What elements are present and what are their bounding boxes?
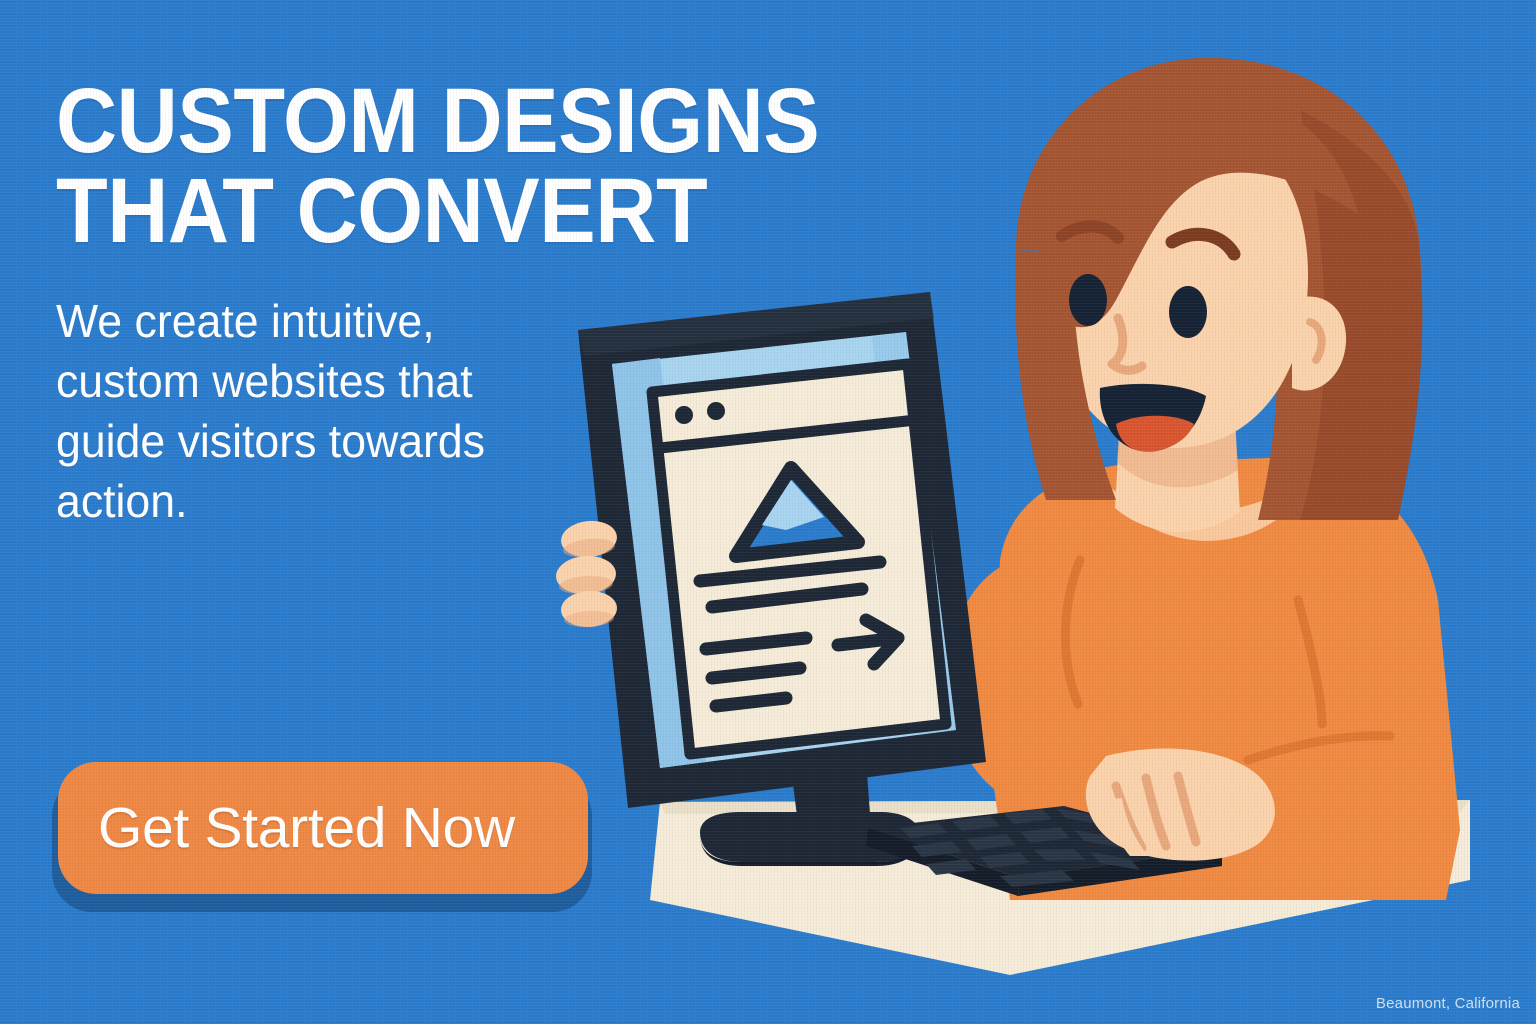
- copy-block: CUSTOM DESIGNSTHAT CONVERT We create int…: [56, 76, 956, 532]
- cta-container: Get Started Now: [58, 762, 588, 894]
- subheadline: We create intuitive, custom websites tha…: [56, 292, 502, 531]
- promo-banner: CUSTOM DESIGNSTHAT CONVERT We create int…: [0, 0, 1536, 1024]
- get-started-button[interactable]: Get Started Now: [58, 762, 588, 894]
- page-title: CUSTOM DESIGNSTHAT CONVERT: [56, 76, 884, 256]
- headline-line-1: CUSTOM DESIGNS: [56, 70, 819, 172]
- hand-gripping-monitor: [555, 518, 619, 628]
- location-label: Beaumont, California: [1376, 995, 1520, 1012]
- headline-line-2: THAT CONVERT: [56, 166, 884, 256]
